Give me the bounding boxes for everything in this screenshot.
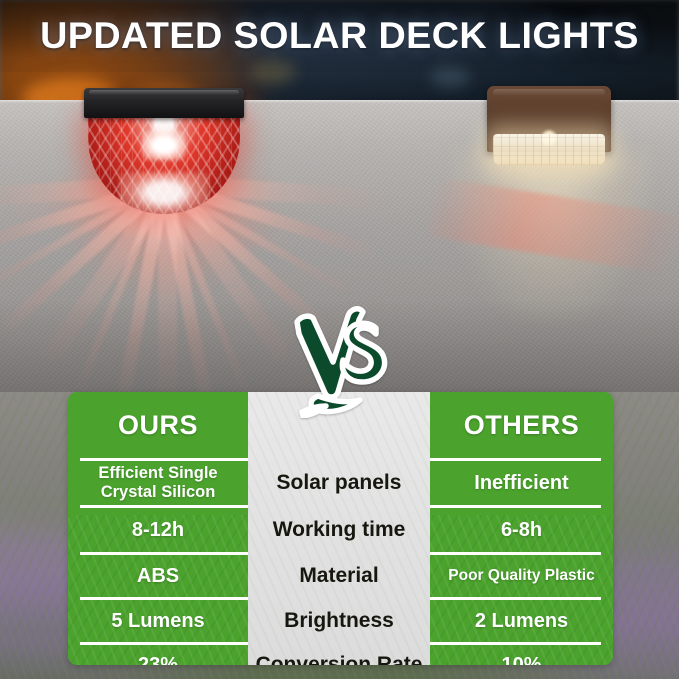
cell-ours: 8-12h <box>68 508 248 552</box>
table-row: ABS Material Poor Quality Plastic <box>68 555 613 597</box>
product-comparison-image: UPDATED SOLAR DECK LIGHTS OURS OTHERS <box>0 0 679 679</box>
cell-value-ours: Efficient Single Crystal Silicon <box>98 464 217 501</box>
cell-value-others: Inefficient <box>474 472 568 495</box>
cell-feature: Solar panels <box>248 461 430 505</box>
right-product-deck-light <box>487 86 611 178</box>
cell-value-others: 6-8h <box>501 519 542 542</box>
cell-value-others: 10% <box>501 654 541 665</box>
cell-feature: Working time <box>248 508 430 552</box>
cell-label-feature: Conversion Rate <box>256 653 423 665</box>
left-product-deck-light <box>84 88 244 318</box>
comparison-table: OURS OTHERS Efficient Single Crystal Sil… <box>68 392 613 665</box>
page-title: UPDATED SOLAR DECK LIGHTS <box>40 15 639 57</box>
cell-others: 6-8h <box>430 508 613 552</box>
right-lamp-lens <box>493 134 605 165</box>
cell-value-others: Poor Quality Plastic <box>448 567 594 585</box>
table-header-row: OURS OTHERS <box>68 392 613 458</box>
header-cell-middle <box>248 392 430 458</box>
light-rays <box>0 184 330 400</box>
cell-label-feature: Solar panels <box>277 471 402 495</box>
cell-feature: Brightness <box>248 600 430 642</box>
table-row: Efficient Single Crystal Silicon Solar p… <box>68 461 613 505</box>
cell-ours: ABS <box>68 555 248 597</box>
header-banner: UPDATED SOLAR DECK LIGHTS <box>0 0 679 72</box>
cell-value-ours: 8-12h <box>132 519 184 542</box>
cell-label-feature: Material <box>299 564 378 588</box>
header-label-ours: OURS <box>118 410 198 441</box>
led-hotspot <box>142 130 186 160</box>
table-grid: OURS OTHERS Efficient Single Crystal Sil… <box>68 392 613 665</box>
cell-others: Poor Quality Plastic <box>430 555 613 597</box>
table-row: 8-12h Working time 6-8h <box>68 508 613 552</box>
table-row: 23% Conversion Rate 10% <box>68 645 613 665</box>
left-lamp-solar-cap <box>84 88 244 118</box>
cell-feature: Material <box>248 555 430 597</box>
cell-ours: 23% <box>68 645 248 665</box>
cell-value-ours: ABS <box>137 565 179 588</box>
cell-ours: 5 Lumens <box>68 600 248 642</box>
cell-others: 10% <box>430 645 613 665</box>
cell-value-ours: 5 Lumens <box>111 610 204 633</box>
header-cell-ours: OURS <box>68 392 248 458</box>
cell-label-feature: Working time <box>273 518 406 542</box>
cell-ours: Efficient Single Crystal Silicon <box>68 461 248 505</box>
header-cell-others: OTHERS <box>430 392 613 458</box>
cell-feature: Conversion Rate <box>248 645 430 665</box>
cell-value-others: 2 Lumens <box>475 610 568 633</box>
cell-others: 2 Lumens <box>430 600 613 642</box>
table-row: 5 Lumens Brightness 2 Lumens <box>68 600 613 642</box>
cell-label-feature: Brightness <box>284 609 394 633</box>
lens-core-glow <box>119 172 209 214</box>
header-label-others: OTHERS <box>464 410 580 441</box>
cell-value-ours: 23% <box>138 654 178 665</box>
left-lamp-lens <box>88 116 240 214</box>
cell-others: Inefficient <box>430 461 613 505</box>
